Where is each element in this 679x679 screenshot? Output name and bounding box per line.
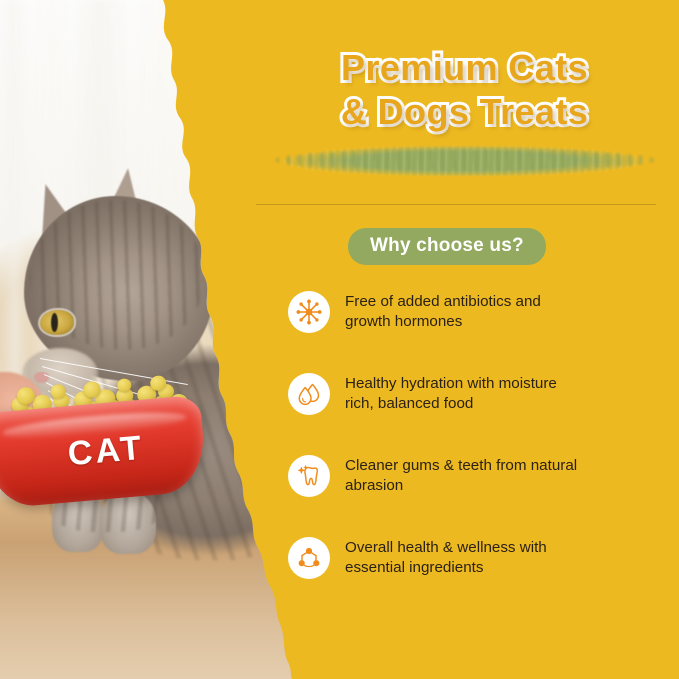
feature-label: Healthy hydration with moisture rich, ba…: [345, 372, 557, 414]
molecule-wellness-icon: [288, 537, 330, 579]
feature-list: Free of added antibiotics and growth hor…: [288, 290, 668, 618]
headline-block: Premium Cats & Dogs Treats: [250, 46, 679, 134]
water-droplet-icon: [288, 373, 330, 415]
feature-item-hydration: Healthy hydration with moisture rich, ba…: [288, 372, 668, 428]
feature-label: Cleaner gums & teeth from natural abrasi…: [345, 454, 577, 496]
cat-nose: [34, 372, 49, 383]
horizontal-divider: [256, 204, 656, 205]
why-choose-us-badge: Why choose us?: [348, 228, 546, 265]
clean-tooth-icon: [288, 455, 330, 497]
antibiotic-free-icon: [288, 291, 330, 333]
cat-pupil: [51, 313, 58, 332]
green-brush-underline: [284, 146, 644, 176]
page-title: Premium Cats & Dogs Treats: [250, 46, 679, 134]
feature-label: Free of added antibiotics and growth hor…: [345, 290, 541, 332]
feature-item-antibiotics: Free of added antibiotics and growth hor…: [288, 290, 668, 346]
feature-item-teeth: Cleaner gums & teeth from natural abrasi…: [288, 454, 668, 510]
feature-item-wellness: Overall health & wellness with essential…: [288, 536, 668, 592]
promo-banner: CAT Premium Cats & Dogs Treats Why choos…: [0, 0, 679, 679]
content-column: Premium Cats & Dogs Treats Why choose us…: [250, 0, 679, 679]
feature-label: Overall health & wellness with essential…: [345, 536, 547, 578]
